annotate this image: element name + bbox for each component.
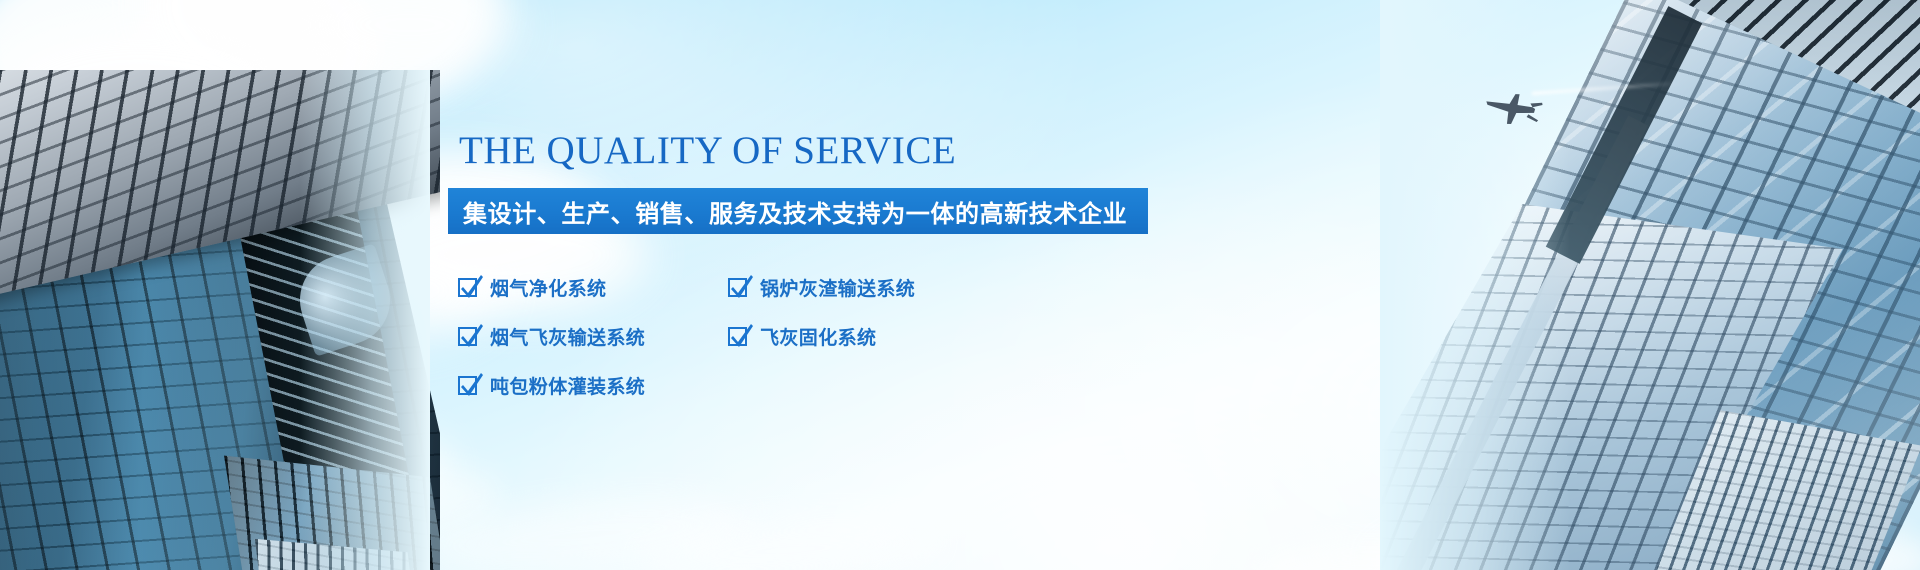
edge-fade xyxy=(300,70,430,570)
slogan-text: 集设计、生产、销售、服务及技术支持为一体的高新技术企业 xyxy=(463,194,1127,229)
list-item-label: 飞灰固化系统 xyxy=(760,323,876,350)
checkbox-checked-icon[interactable] xyxy=(458,376,477,395)
list-item[interactable]: 烟气飞灰输送系统 xyxy=(458,323,728,350)
checkbox-checked-icon[interactable] xyxy=(458,327,477,346)
hero-banner: THE QUALITY OF SERVICE 集设计、生产、销售、服务及技术支持… xyxy=(0,0,1920,570)
feature-list: 烟气净化系统 锅炉灰渣输送系统 烟气飞灰输送系统 飞灰固化系统 xyxy=(448,274,1208,399)
skyscraper-left xyxy=(0,70,440,570)
list-item[interactable]: 飞灰固化系统 xyxy=(728,323,998,350)
list-item-label: 烟气飞灰输送系统 xyxy=(490,323,645,350)
slogan-bar: 集设计、生产、销售、服务及技术支持为一体的高新技术企业 xyxy=(448,188,1148,234)
airplane-group xyxy=(1470,70,1610,140)
airplane-icon xyxy=(1482,88,1544,132)
list-item[interactable]: 烟气净化系统 xyxy=(458,274,728,301)
checkbox-checked-icon[interactable] xyxy=(728,278,747,297)
list-item-label: 吨包粉体灌装系统 xyxy=(490,372,645,399)
list-item-label: 烟气净化系统 xyxy=(490,274,606,301)
list-item-label: 锅炉灰渣输送系统 xyxy=(760,274,915,301)
list-item[interactable]: 锅炉灰渣输送系统 xyxy=(728,274,998,301)
list-item[interactable]: 吨包粉体灌装系统 xyxy=(458,372,728,399)
page-title: THE QUALITY OF SERVICE xyxy=(448,128,1208,174)
checkbox-checked-icon[interactable] xyxy=(458,278,477,297)
banner-content: THE QUALITY OF SERVICE 集设计、生产、销售、服务及技术支持… xyxy=(448,128,1208,399)
checkbox-checked-icon[interactable] xyxy=(728,327,747,346)
